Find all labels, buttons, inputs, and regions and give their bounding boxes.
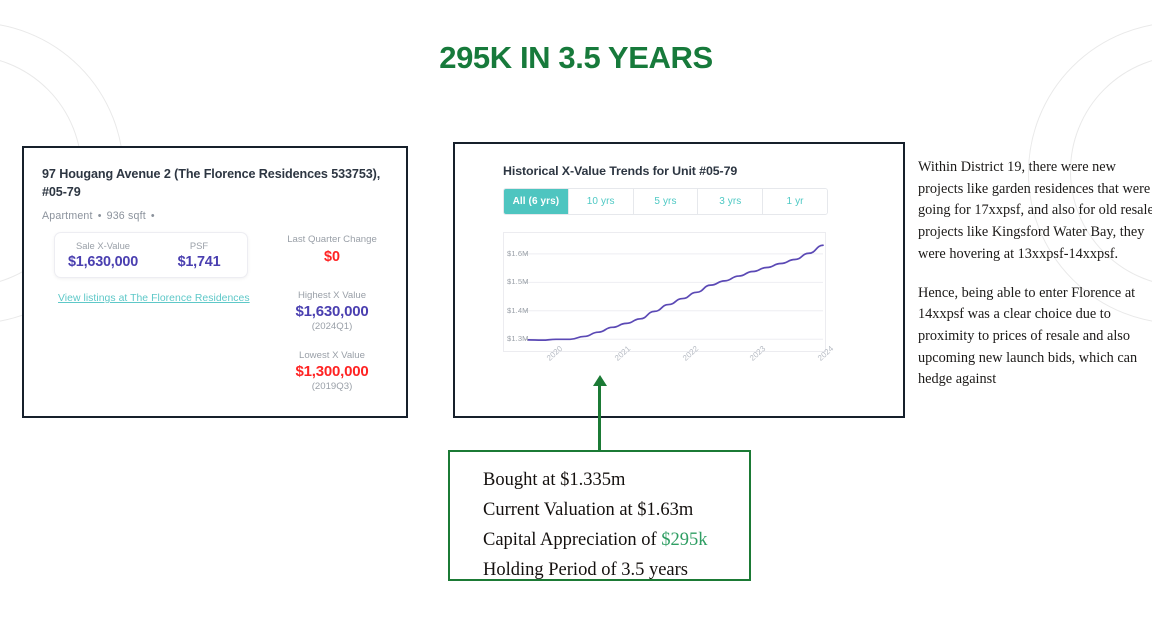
property-address: 97 Hougang Avenue 2 (The Florence Reside… [42,166,382,202]
slide-canvas: 295K IN 3.5 YEARS 97 Hougang Avenue 2 (T… [0,0,1152,627]
callout-line-3: Holding Period of 3.5 years [483,555,749,585]
lowest-xvalue-label: Lowest X Value [267,350,397,361]
property-card: 97 Hougang Avenue 2 (The Florence Reside… [22,146,408,418]
meta-separator-1: • [98,210,102,222]
chart-plot-area [503,232,826,352]
timeframe-tabs[interactable]: All (6 yrs)10 yrs5 yrs3 yrs1 yr [503,188,828,215]
side-note: Within District 19, there were new proje… [918,157,1152,408]
sale-xvalue-cell: Sale X-Value $1,630,000 [55,240,151,271]
timeframe-tab-2[interactable]: 5 yrs [634,189,699,214]
property-size: 936 sqft [107,210,146,222]
timeframe-tab-3[interactable]: 3 yrs [698,189,763,214]
y-tick-label-2: $1.4M [507,306,529,315]
lowest-xvalue-period: (2019Q3) [267,381,397,392]
last-quarter-change-label: Last Quarter Change [267,234,397,245]
chart-card: Historical X-Value Trends for Unit #05-7… [453,142,905,418]
sale-xvalue-value: $1,630,000 [68,254,138,270]
y-tick-label-1: $1.5M [507,277,529,286]
timeframe-tab-0[interactable]: All (6 yrs) [504,189,569,214]
timeframe-tab-4[interactable]: 1 yr [763,189,827,214]
property-type: Apartment [42,210,93,222]
xvalue-box: Sale X-Value $1,630,000 PSF $1,741 [54,232,248,278]
side-note-paragraph-0: Within District 19, there were new proje… [918,157,1152,266]
lowest-xvalue-value: $1,300,000 [267,363,397,380]
psf-cell: PSF $1,741 [151,240,247,271]
summary-callout: Bought at $1.335mCurrent Valuation at $1… [448,450,751,581]
chart-title: Historical X-Value Trends for Unit #05-7… [503,164,737,178]
meta-separator-2: • [151,210,155,222]
last-quarter-change-value: $0 [324,249,340,265]
callout-line-2: Capital Appreciation of $295k [483,525,749,555]
callout-arrow-stem [598,382,601,458]
xvalue-trend-svg [504,233,825,351]
timeframe-tab-1[interactable]: 10 yrs [569,189,634,214]
psf-label: PSF [151,240,247,251]
highest-xvalue-value: $1,630,000 [267,303,397,320]
lowest-xvalue: Lowest X Value $1,300,000 (2019Q3) [267,350,397,392]
callout-highlight: $295k [661,530,707,550]
y-tick-label-3: $1.3M [507,334,529,343]
callout-line-1: Current Valuation at $1.63m [483,495,749,525]
sale-xvalue-label: Sale X-Value [55,240,151,251]
page-title: 295K IN 3.5 YEARS [0,40,1152,76]
psf-value: $1,741 [178,254,221,270]
highest-xvalue-label: Highest X Value [267,290,397,301]
highest-xvalue: Highest X Value $1,630,000 (2024Q1) [267,290,397,332]
last-quarter-change: Last Quarter Change $0 [267,234,397,266]
side-note-paragraph-1: Hence, being able to enter Florence at 1… [918,283,1152,392]
highest-xvalue-period: (2024Q1) [267,321,397,332]
view-listings-link[interactable]: View listings at The Florence Residences [58,293,250,304]
callout-line-0: Bought at $1.335m [483,465,749,495]
y-tick-label-0: $1.6M [507,249,529,258]
property-meta: Apartment•936 sqft• [42,210,160,222]
